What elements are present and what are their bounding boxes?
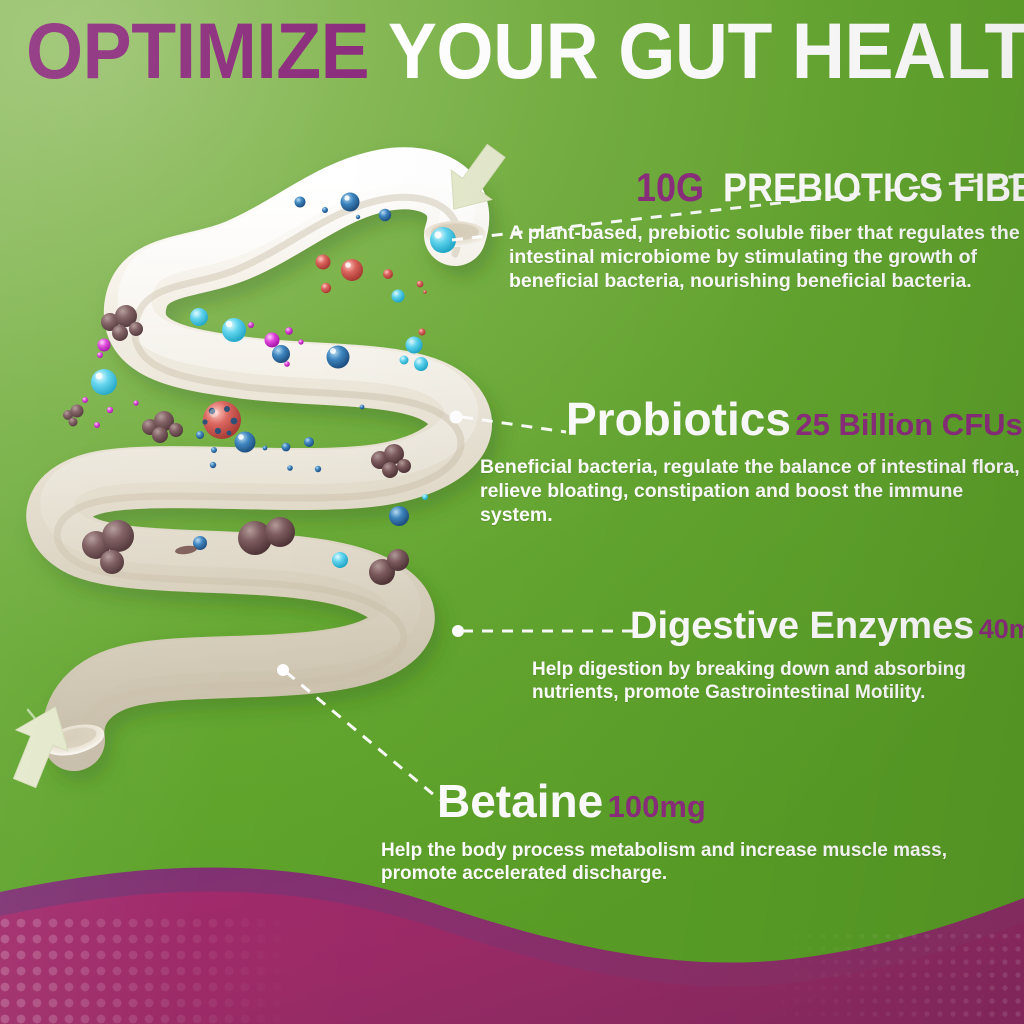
intestine-illustration xyxy=(0,120,520,800)
callout-probiotics: Probiotics 25 Billion CFUs Beneficial ba… xyxy=(566,396,1023,528)
enzymes-name: Digestive Enzymes xyxy=(630,605,974,647)
fiber-name: PREBIOTICS FIBER xyxy=(723,168,1024,208)
callout-digestive-enzymes: Digestive Enzymes 40mg Help digestion by… xyxy=(630,607,1024,705)
callout-headline: Digestive Enzymes 40mg xyxy=(630,607,1024,645)
enzymes-amount: 40mg xyxy=(979,614,1024,644)
callout-headline: Betaine 100mg xyxy=(437,778,1001,824)
title-word-optimize: OPTIMIZE xyxy=(26,6,369,95)
halftone-left xyxy=(0,914,300,1024)
bottom-wave-banner xyxy=(0,854,1024,1024)
betaine-name: Betaine xyxy=(437,775,603,827)
page-title: OPTIMIZE YOUR GUT HEALTH xyxy=(26,9,947,93)
probiotics-description: Beneficial bacteria, regulate the balanc… xyxy=(480,456,1020,528)
probiotics-amount: 25 Billion CFUs xyxy=(795,407,1022,442)
gut-health-infographic: OPTIMIZE YOUR GUT HEALTH xyxy=(0,0,1024,1024)
halftone-right xyxy=(760,934,1024,1024)
fiber-amount: 10G xyxy=(636,168,704,208)
fiber-description: A plant-based, prebiotic soluble fiber t… xyxy=(509,222,1024,294)
callout-headline: Probiotics 25 Billion CFUs xyxy=(566,396,1023,442)
callout-headline: 10G PREBIOTICS FIBER xyxy=(636,168,1024,208)
probiotics-name: Probiotics xyxy=(566,393,791,445)
outlet-arrow-icon xyxy=(0,700,80,790)
callout-prebiotics-fiber: 10G PREBIOTICS FIBER A plant-based, preb… xyxy=(636,168,1024,294)
title-word-your-gut-health: YOUR GUT HEALTH xyxy=(388,6,1024,95)
inlet-arrow-icon xyxy=(440,140,510,220)
betaine-amount: 100mg xyxy=(608,789,706,824)
enzymes-description: Help digestion by breaking down and abso… xyxy=(532,658,1002,705)
